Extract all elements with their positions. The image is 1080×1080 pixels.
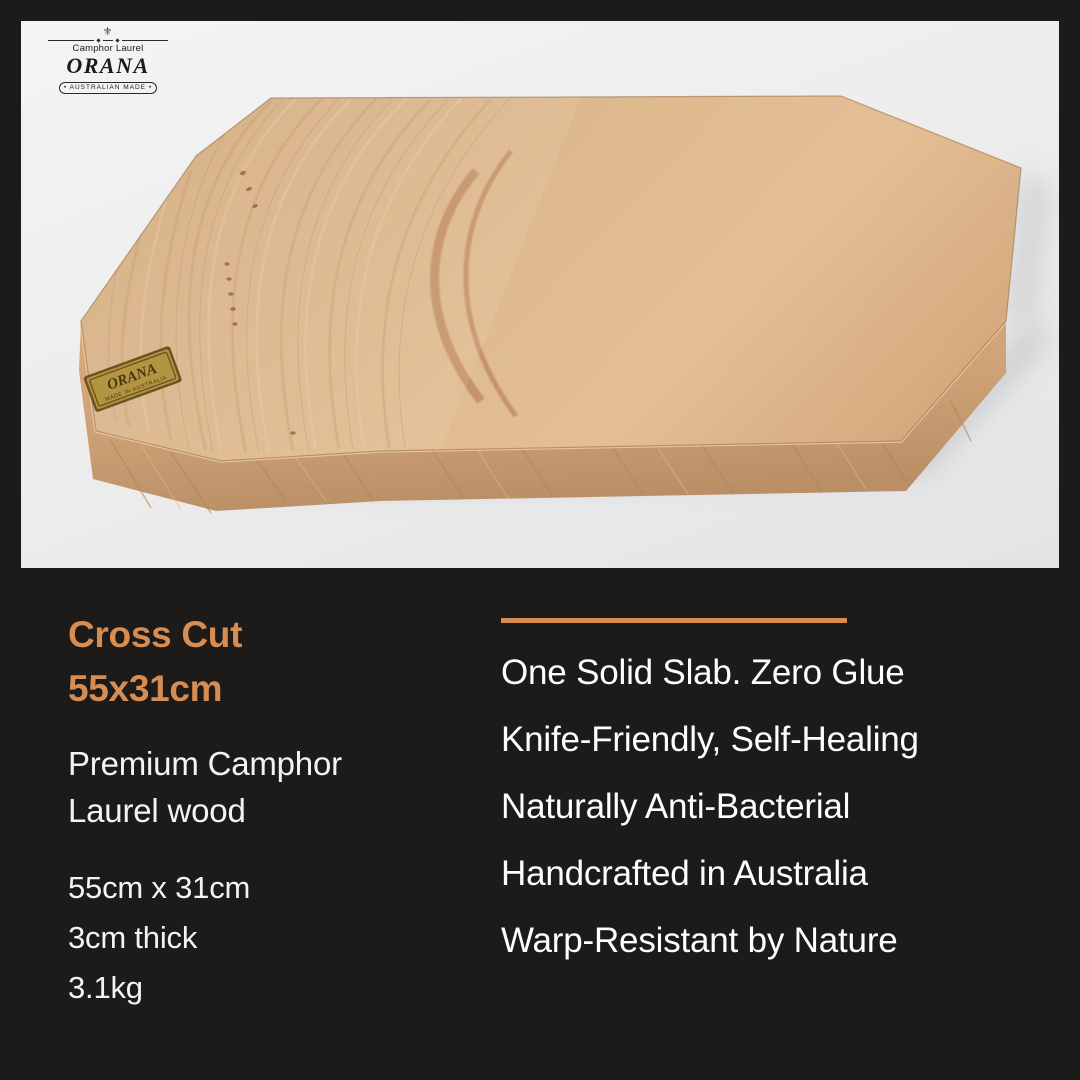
feature-item: Knife-Friendly, Self-Healing xyxy=(501,722,1046,757)
ornamental-crest-icon: ⚜ xyxy=(48,27,168,38)
chopping-board-illustration: ORANA MADE IN AUSTRALIA xyxy=(21,21,1059,568)
material-line2: Laurel wood xyxy=(68,788,458,835)
feature-item: Handcrafted in Australia xyxy=(501,856,1046,891)
product-title-line2: 55x31cm xyxy=(68,662,458,716)
feature-item: Naturally Anti-Bacterial xyxy=(501,789,1046,824)
logo-wordmark: ORANA xyxy=(48,55,168,77)
material-line1: Premium Camphor xyxy=(68,741,458,788)
brand-logo: ⚜ Camphor Laurel ORANA • AUSTRALIAN MADE… xyxy=(48,27,168,94)
product-title: Cross Cut 55x31cm xyxy=(68,608,458,715)
accent-divider xyxy=(501,618,847,623)
product-photo: ORANA MADE IN AUSTRALIA ⚜ Camphor Laurel… xyxy=(21,21,1059,568)
product-title-line1: Cross Cut xyxy=(68,608,458,662)
material-description: Premium Camphor Laurel wood xyxy=(68,741,458,835)
feature-column: One Solid Slab. Zero Glue Knife-Friendly… xyxy=(501,618,1046,958)
product-card: ORANA MADE IN AUSTRALIA ⚜ Camphor Laurel… xyxy=(0,0,1080,1080)
spec-dimensions: 55cm x 31cm xyxy=(68,863,458,913)
spec-weight: 3.1kg xyxy=(68,963,458,1013)
feature-item: One Solid Slab. Zero Glue xyxy=(501,655,1046,690)
info-panel: Cross Cut 55x31cm Premium Camphor Laurel… xyxy=(0,568,1080,1080)
spec-list: 55cm x 31cm 3cm thick 3.1kg xyxy=(68,863,458,1014)
spec-thickness: 3cm thick xyxy=(68,913,458,963)
logo-badge: • AUSTRALIAN MADE • xyxy=(59,82,157,94)
spec-column: Cross Cut 55x31cm Premium Camphor Laurel… xyxy=(68,608,458,1014)
logo-rule-top xyxy=(48,39,168,42)
feature-item: Warp-Resistant by Nature xyxy=(501,923,1046,958)
